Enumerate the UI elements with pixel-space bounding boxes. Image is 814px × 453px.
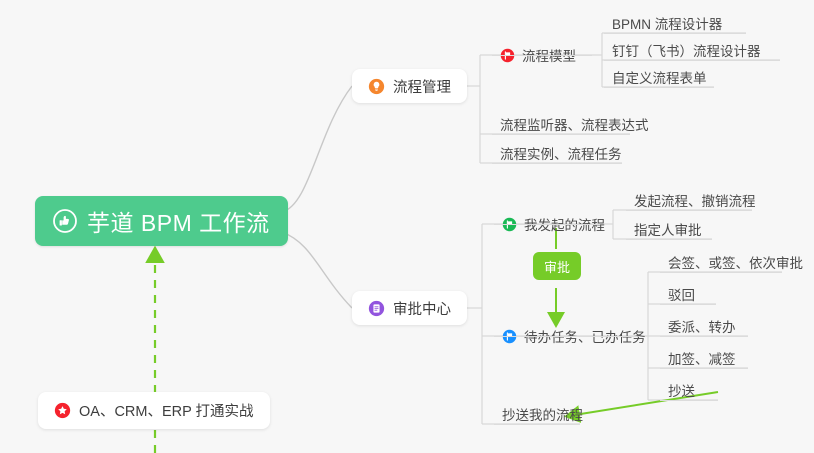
branch-label: 流程管理 bbox=[393, 76, 451, 97]
underline bbox=[660, 304, 716, 305]
underline bbox=[660, 368, 748, 369]
node-label: 自定义流程表单 bbox=[612, 67, 707, 87]
badge-label: 审批 bbox=[544, 257, 570, 276]
underline bbox=[492, 134, 630, 135]
root-label: 芋道 BPM 工作流 bbox=[87, 204, 270, 238]
approval-badge: 审批 bbox=[533, 252, 581, 280]
branch-approval-center[interactable]: 审批中心 bbox=[352, 291, 467, 325]
underline bbox=[494, 224, 600, 225]
underline bbox=[660, 272, 782, 273]
mindmap-canvas: 芋道 BPM 工作流 流程管理 流程模型 BPMN 流程设计器 钉 bbox=[0, 0, 814, 453]
underline bbox=[660, 400, 718, 401]
node-label: 驳回 bbox=[668, 284, 695, 304]
node-label: 会签、或签、依次审批 bbox=[668, 252, 803, 272]
underline bbox=[660, 336, 748, 337]
underline bbox=[626, 239, 712, 240]
underline bbox=[626, 210, 752, 211]
underline bbox=[492, 55, 592, 56]
wire-root-to-process-management bbox=[282, 86, 352, 212]
node-label: 指定人审批 bbox=[634, 219, 702, 239]
thumbs-up-icon bbox=[53, 209, 77, 233]
root-node[interactable]: 芋道 BPM 工作流 bbox=[35, 196, 288, 246]
node-label: 抄送 bbox=[668, 380, 695, 400]
node-label: 发起流程、撤销流程 bbox=[634, 190, 756, 210]
underline bbox=[494, 336, 637, 337]
node-label: 委派、转办 bbox=[668, 316, 736, 336]
star-icon bbox=[54, 402, 71, 419]
node-label: 抄送我的流程 bbox=[502, 404, 583, 424]
underline bbox=[604, 60, 780, 61]
branch-label: 审批中心 bbox=[393, 298, 451, 319]
underline bbox=[604, 87, 714, 88]
footnote-label: OA、CRM、ERP 打通实战 bbox=[79, 400, 254, 421]
node-label: 钉钉（飞书）流程设计器 bbox=[612, 40, 761, 60]
wire-root-to-approval-center bbox=[282, 232, 352, 308]
underline bbox=[494, 424, 580, 425]
footnote-node[interactable]: OA、CRM、ERP 打通实战 bbox=[38, 392, 270, 429]
node-label: 加签、减签 bbox=[668, 348, 736, 368]
lightbulb-icon bbox=[368, 78, 385, 95]
node-label: 流程监听器、流程表达式 bbox=[500, 114, 649, 134]
underline bbox=[604, 33, 746, 34]
branch-process-management[interactable]: 流程管理 bbox=[352, 69, 467, 103]
node-label: 流程实例、流程任务 bbox=[500, 143, 622, 163]
doc-icon bbox=[368, 300, 385, 317]
node-label: BPMN 流程设计器 bbox=[612, 13, 722, 33]
underline bbox=[492, 163, 622, 164]
